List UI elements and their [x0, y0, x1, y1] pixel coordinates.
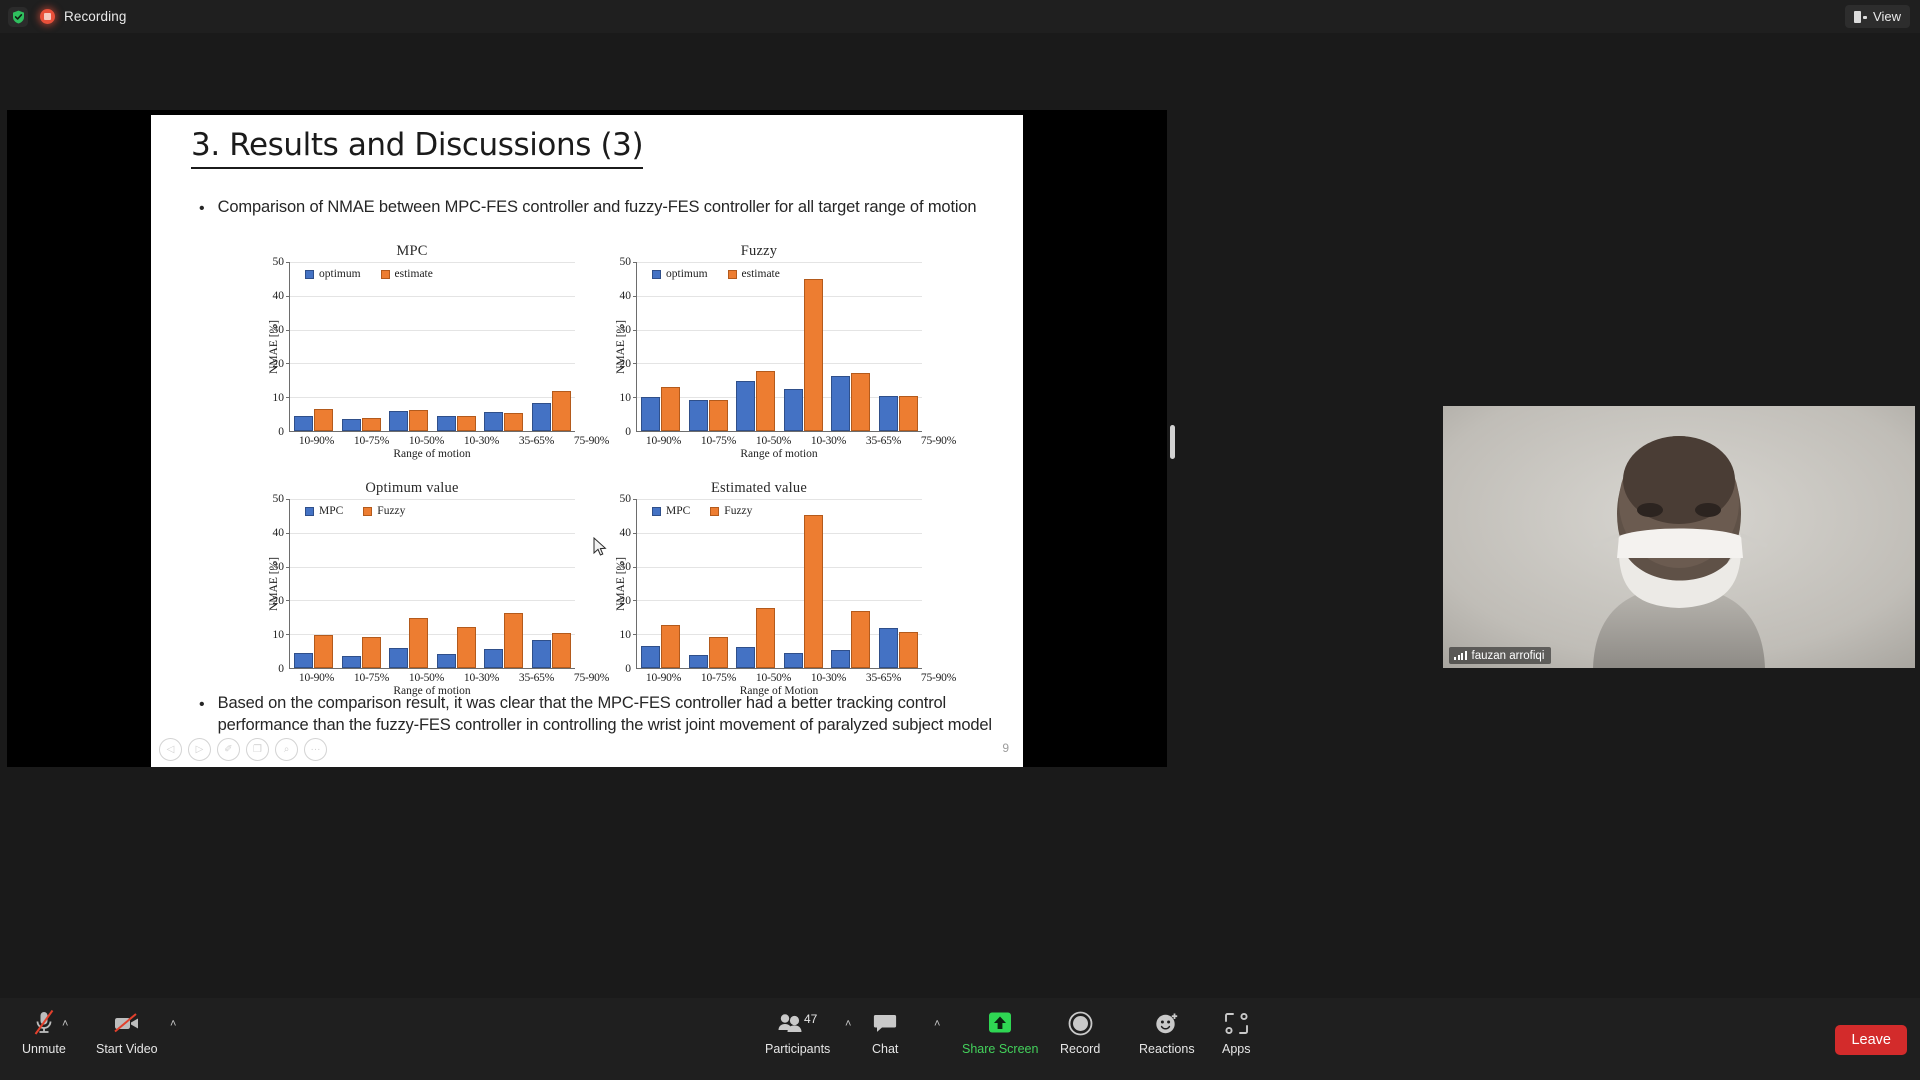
- legend-swatch: [652, 270, 661, 279]
- chat-bubble-icon: [873, 1008, 897, 1038]
- legend-item: estimate: [381, 268, 433, 280]
- recording-label: Recording: [64, 9, 126, 24]
- bar-optimum-10-50%: [736, 381, 755, 431]
- x-tick-label: 35-65%: [856, 435, 911, 447]
- bar-mpc-10-75%: [342, 656, 361, 668]
- slide-title: 3. Results and Discussions (3): [191, 128, 643, 169]
- smiley-plus-icon: [1154, 1008, 1180, 1038]
- chat-options-caret-icon[interactable]: ˄: [934, 1018, 940, 1030]
- bar-estimate-10-75%: [362, 418, 381, 431]
- x-tick-label: 10-75%: [344, 435, 399, 447]
- bar-mpc-10-30%: [437, 654, 456, 668]
- y-tick-label: 40: [273, 527, 285, 539]
- chart-legend: MPCFuzzy: [652, 505, 752, 517]
- y-tick-label: 10: [273, 392, 285, 404]
- bar-group: [385, 499, 433, 668]
- chart-optimum-value: Optimum valueNMAE [%]01020304050MPCFuzzy…: [247, 480, 577, 697]
- chart-legend: MPCFuzzy: [305, 505, 405, 517]
- bar-estimate-10-90%: [314, 409, 333, 431]
- y-axis-ticks: 01020304050: [261, 262, 287, 432]
- bar-group: [732, 262, 780, 431]
- x-tick-label: 10-90%: [289, 672, 344, 684]
- bullet-item-1: • Comparison of NMAE between MPC-FES con…: [199, 197, 989, 219]
- chart-estimated-value: Estimated valueNMAE [%]01020304050MPCFuz…: [594, 480, 924, 697]
- chart-legend: optimumestimate: [652, 268, 780, 280]
- bar-mpc-10-90%: [294, 653, 313, 668]
- bar-estimate-10-50%: [756, 371, 775, 431]
- x-tick-label: 75-90%: [911, 435, 966, 447]
- bar-group: [685, 262, 733, 431]
- x-tick-label: 10-50%: [399, 672, 454, 684]
- bar-fuzzy-10-50%: [409, 618, 428, 668]
- y-tick-label: 40: [273, 290, 285, 302]
- chart-title: MPC: [247, 243, 577, 260]
- chat-button-label: Chat: [872, 1042, 898, 1056]
- bar-group: [780, 262, 828, 431]
- bar-groups: [637, 499, 922, 668]
- bar-optimum-35-65%: [831, 376, 850, 431]
- bar-fuzzy-35-65%: [504, 613, 523, 668]
- recording-dot-icon[interactable]: [40, 9, 55, 24]
- legend-label: estimate: [395, 268, 433, 280]
- x-tick-label: 35-65%: [509, 672, 564, 684]
- bar-estimate-10-50%: [409, 410, 428, 431]
- apps-button[interactable]: Apps: [1222, 1008, 1251, 1056]
- x-axis-ticks: 10-90%10-75%10-50%10-30%35-65%75-90%: [289, 435, 619, 447]
- bar-mpc-75-90%: [532, 640, 551, 668]
- bar-mpc-35-65%: [831, 650, 850, 668]
- y-tick-label: 0: [278, 663, 284, 675]
- y-axis-ticks: 01020304050: [261, 499, 287, 669]
- slide-pager-controls: ◁▷✐❐⌕···: [159, 738, 327, 761]
- y-tick-label: 30: [273, 324, 285, 336]
- participants-options-caret-icon[interactable]: ˄: [845, 1018, 851, 1030]
- presentation-slide[interactable]: 3. Results and Discussions (3) • Compari…: [151, 115, 1023, 767]
- bar-optimum-10-90%: [294, 416, 313, 431]
- x-tick-label: 10-90%: [636, 672, 691, 684]
- participants-icon: 47: [776, 1008, 820, 1038]
- bar-fuzzy-35-65%: [851, 611, 870, 668]
- share-screen-button-label: Share Screen: [962, 1042, 1038, 1056]
- y-tick-label: 10: [620, 392, 632, 404]
- meeting-top-bar: Recording View: [0, 0, 1920, 33]
- bullet-item-2: • Based on the comparison result, it was…: [199, 693, 999, 737]
- participant-name-label: fauzan arrofiqi: [1449, 647, 1551, 664]
- prev-slide-button[interactable]: ◁: [159, 738, 182, 761]
- plot-canvas: [636, 499, 922, 669]
- bar-estimate-10-30%: [457, 416, 476, 431]
- legend-item: estimate: [728, 268, 780, 280]
- record-button[interactable]: Record: [1060, 1008, 1100, 1056]
- y-tick-label: 0: [625, 663, 631, 675]
- camera-muted-icon: [112, 1008, 142, 1038]
- start-video-button[interactable]: Start Video: [96, 1008, 158, 1056]
- x-tick-label: 10-50%: [746, 435, 801, 447]
- legend-swatch: [728, 270, 737, 279]
- audio-options-caret-icon[interactable]: ˄: [62, 1018, 68, 1030]
- x-tick-label: 35-65%: [509, 435, 564, 447]
- share-screen-arrow-icon: [987, 1008, 1013, 1038]
- plot-area: NMAE [%]01020304050optimumestimate: [247, 262, 577, 432]
- plot-canvas: [636, 262, 922, 432]
- bar-mpc-10-75%: [689, 655, 708, 668]
- bar-group: [827, 499, 875, 668]
- bar-fuzzy-10-90%: [314, 635, 333, 668]
- plot-canvas: [289, 499, 575, 669]
- x-axis-ticks: 10-90%10-75%10-50%10-30%35-65%75-90%: [289, 672, 619, 684]
- unmute-button[interactable]: Unmute: [22, 1008, 66, 1056]
- x-tick-label: 10-50%: [399, 435, 454, 447]
- y-tick-label: 50: [620, 493, 632, 505]
- bar-mpc-10-50%: [736, 647, 755, 668]
- bar-group: [875, 499, 923, 668]
- x-tick-label: 10-90%: [636, 435, 691, 447]
- mouse-cursor: [593, 537, 607, 557]
- bullet-text-2: Based on the comparison result, it was c…: [218, 693, 999, 737]
- bar-estimate-75-90%: [899, 396, 918, 431]
- plot-area: NMAE [%]01020304050MPCFuzzy: [247, 499, 577, 669]
- x-tick-label: 10-75%: [691, 672, 746, 684]
- bar-optimum-10-90%: [641, 397, 660, 431]
- x-tick-label: 10-30%: [801, 672, 856, 684]
- bar-group: [875, 262, 923, 431]
- y-tick-label: 10: [273, 629, 285, 641]
- legend-label: optimum: [319, 268, 361, 280]
- x-axis-ticks: 10-90%10-75%10-50%10-30%35-65%75-90%: [636, 672, 966, 684]
- y-tick-label: 50: [620, 256, 632, 268]
- bar-group: [433, 499, 481, 668]
- legend-item: Fuzzy: [363, 505, 405, 517]
- bar-estimate-10-75%: [709, 400, 728, 431]
- legend-item: MPC: [305, 505, 343, 517]
- panel-resize-handle[interactable]: [1170, 425, 1175, 459]
- legend-swatch: [305, 270, 314, 279]
- y-tick-label: 40: [620, 527, 632, 539]
- y-tick-label: 30: [620, 561, 632, 573]
- x-tick-label: 35-65%: [856, 672, 911, 684]
- plot-area: NMAE [%]01020304050optimumestimate: [594, 262, 924, 432]
- legend-item: optimum: [305, 268, 361, 280]
- legend-label: estimate: [742, 268, 780, 280]
- bar-optimum-10-30%: [784, 389, 803, 431]
- slide-page-number: 9: [1002, 741, 1009, 755]
- bar-optimum-10-75%: [689, 400, 708, 431]
- bar-group: [780, 499, 828, 668]
- record-circle-icon: [1068, 1008, 1093, 1038]
- svg-text:47: 47: [804, 1012, 818, 1026]
- x-tick-label: 10-75%: [344, 672, 399, 684]
- bar-groups: [290, 499, 575, 668]
- participants-button[interactable]: 47 Participants: [765, 1008, 830, 1056]
- bar-estimate-75-90%: [552, 391, 571, 431]
- bar-optimum-35-65%: [484, 412, 503, 431]
- x-tick-label: 75-90%: [911, 672, 966, 684]
- bar-fuzzy-75-90%: [899, 632, 918, 668]
- y-tick-label: 20: [620, 358, 632, 370]
- bar-group: [480, 262, 528, 431]
- shield-check-icon[interactable]: [8, 7, 28, 27]
- legend-swatch: [363, 507, 372, 516]
- bar-group: [338, 499, 386, 668]
- x-tick-label: 10-90%: [289, 435, 344, 447]
- bar-group: [290, 499, 338, 668]
- bar-group: [637, 499, 685, 668]
- y-axis-ticks: 01020304050: [608, 262, 634, 432]
- next-slide-button[interactable]: ▷: [188, 738, 211, 761]
- bar-fuzzy-10-75%: [709, 637, 728, 668]
- legend-label: MPC: [319, 505, 343, 517]
- bar-group: [528, 499, 576, 668]
- legend-swatch: [381, 270, 390, 279]
- pen-annotate-button[interactable]: ✐: [217, 738, 240, 761]
- y-tick-label: 0: [278, 426, 284, 438]
- bar-fuzzy-10-50%: [756, 608, 775, 669]
- bar-groups: [637, 262, 922, 431]
- y-tick-label: 20: [273, 595, 285, 607]
- share-screen-button[interactable]: Share Screen: [962, 1008, 1038, 1056]
- bullet-marker: •: [199, 693, 205, 737]
- participant-video-tile[interactable]: fauzan arrofiqi: [1443, 406, 1915, 668]
- start-video-button-label: Start Video: [96, 1042, 158, 1056]
- view-layout-icon: [1854, 11, 1867, 23]
- bar-estimate-10-90%: [661, 387, 680, 431]
- x-tick-label: 10-50%: [746, 672, 801, 684]
- zoom-meeting-window: Recording View 3. Results and Discussion…: [0, 0, 1920, 1080]
- x-axis-label: Range of motion: [247, 448, 577, 460]
- unmute-button-label: Unmute: [22, 1042, 66, 1056]
- bar-fuzzy-10-30%: [457, 627, 476, 668]
- bar-group: [480, 499, 528, 668]
- video-options-caret-icon[interactable]: ˄: [170, 1018, 176, 1030]
- view-button[interactable]: View: [1845, 5, 1910, 28]
- bar-mpc-35-65%: [484, 649, 503, 668]
- bar-fuzzy-75-90%: [552, 633, 571, 668]
- legend-label: MPC: [666, 505, 690, 517]
- bar-mpc-10-30%: [784, 653, 803, 668]
- legend-label: Fuzzy: [377, 505, 405, 517]
- bar-optimum-10-30%: [437, 416, 456, 431]
- legend-label: optimum: [666, 268, 708, 280]
- bar-optimum-75-90%: [532, 403, 551, 431]
- video-frame: [1443, 406, 1915, 668]
- chart-title: Optimum value: [247, 480, 577, 497]
- apps-bracket-icon: [1224, 1008, 1249, 1038]
- y-tick-label: 30: [273, 561, 285, 573]
- y-tick-label: 50: [273, 493, 285, 505]
- bar-group: [637, 262, 685, 431]
- x-tick-label: 10-75%: [691, 435, 746, 447]
- participant-name-text: fauzan arrofiqi: [1472, 650, 1545, 662]
- bar-fuzzy-10-75%: [362, 637, 381, 668]
- record-button-label: Record: [1060, 1042, 1100, 1056]
- plot-canvas: [289, 262, 575, 432]
- legend-swatch: [710, 507, 719, 516]
- shared-screen-stage: 3. Results and Discussions (3) • Compari…: [7, 110, 1167, 767]
- view-button-label: View: [1873, 9, 1901, 24]
- bar-fuzzy-10-90%: [661, 625, 680, 668]
- y-tick-label: 30: [620, 324, 632, 336]
- y-axis-ticks: 01020304050: [608, 499, 634, 669]
- bar-group: [685, 499, 733, 668]
- chat-button[interactable]: Chat: [872, 1008, 898, 1056]
- x-tick-label: 10-30%: [801, 435, 856, 447]
- reactions-button[interactable]: Reactions: [1139, 1008, 1195, 1056]
- x-axis-label: Range of motion: [594, 448, 924, 460]
- y-tick-label: 10: [620, 629, 632, 641]
- y-tick-label: 40: [620, 290, 632, 302]
- bar-mpc-75-90%: [879, 628, 898, 668]
- bullet-text-1: Comparison of NMAE between MPC-FES contr…: [218, 197, 977, 219]
- legend-item: Fuzzy: [710, 505, 752, 517]
- bar-optimum-10-50%: [389, 411, 408, 431]
- chart-mpc: MPCNMAE [%]01020304050optimumestimate10-…: [247, 243, 577, 460]
- bar-mpc-10-50%: [389, 648, 408, 668]
- bullet-marker: •: [199, 197, 205, 219]
- reactions-button-label: Reactions: [1139, 1042, 1195, 1056]
- y-tick-label: 20: [620, 595, 632, 607]
- bar-group: [338, 262, 386, 431]
- legend-label: Fuzzy: [724, 505, 752, 517]
- x-tick-label: 10-30%: [454, 672, 509, 684]
- bar-optimum-10-75%: [342, 419, 361, 431]
- bar-group: [385, 262, 433, 431]
- meeting-controls-toolbar: Unmute ˄ Start Video ˄ 47: [0, 998, 1920, 1080]
- zoom-button[interactable]: ⌕: [275, 738, 298, 761]
- bar-estimate-10-30%: [804, 279, 823, 431]
- chart-fuzzy: FuzzyNMAE [%]01020304050optimumestimate1…: [594, 243, 924, 460]
- bar-group: [528, 262, 576, 431]
- participants-button-label: Participants: [765, 1042, 830, 1056]
- x-axis-ticks: 10-90%10-75%10-50%10-30%35-65%75-90%: [636, 435, 966, 447]
- bar-groups: [290, 262, 575, 431]
- bar-group: [433, 262, 481, 431]
- bar-optimum-75-90%: [879, 396, 898, 431]
- copy-button[interactable]: ❐: [246, 738, 269, 761]
- bar-group: [290, 262, 338, 431]
- signal-bars-icon: [1454, 651, 1467, 660]
- microphone-muted-icon: [32, 1008, 56, 1038]
- more-options-button[interactable]: ···: [304, 738, 327, 761]
- leave-button[interactable]: Leave: [1835, 1025, 1907, 1055]
- y-tick-label: 0: [625, 426, 631, 438]
- bar-group: [732, 499, 780, 668]
- bar-estimate-35-65%: [504, 413, 523, 431]
- bar-mpc-10-90%: [641, 646, 660, 668]
- legend-swatch: [305, 507, 314, 516]
- x-tick-label: 10-30%: [454, 435, 509, 447]
- legend-swatch: [652, 507, 661, 516]
- chart-legend: optimumestimate: [305, 268, 433, 280]
- plot-area: NMAE [%]01020304050MPCFuzzy: [594, 499, 924, 669]
- chart-title: Estimated value: [594, 480, 924, 497]
- bar-fuzzy-10-30%: [804, 515, 823, 668]
- y-tick-label: 20: [273, 358, 285, 370]
- legend-item: MPC: [652, 505, 690, 517]
- legend-item: optimum: [652, 268, 708, 280]
- bar-estimate-35-65%: [851, 373, 870, 431]
- bar-group: [827, 262, 875, 431]
- apps-button-label: Apps: [1222, 1042, 1251, 1056]
- chart-title: Fuzzy: [594, 243, 924, 260]
- y-tick-label: 50: [273, 256, 285, 268]
